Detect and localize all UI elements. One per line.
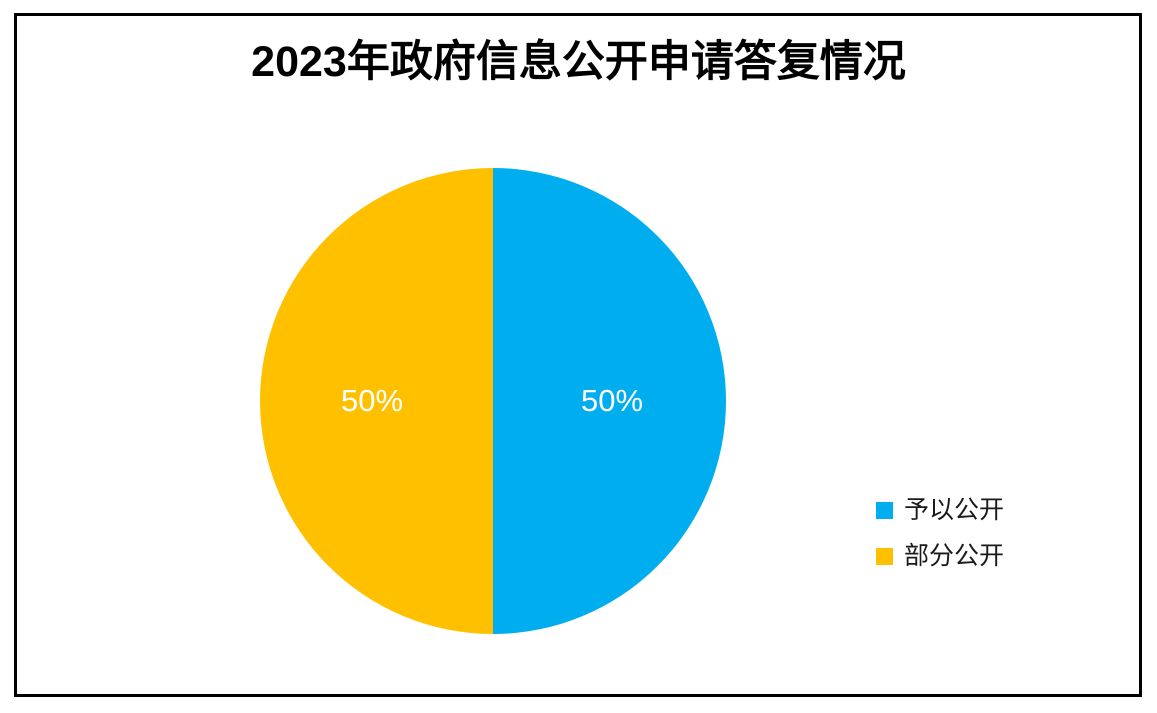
chart-canvas: 2023年政府信息公开申请答复情况 50% 50% 予以公开 部分公开 <box>0 0 1157 713</box>
square-swatch-icon <box>876 502 893 519</box>
legend-item-label: 予以公开 <box>904 498 1004 523</box>
pie-slice-label-yuyigongkai: 50% <box>581 383 643 418</box>
pie-slice-label-bufengongkai: 50% <box>341 383 403 418</box>
pie-chart-svg: 50% 50% <box>260 168 726 634</box>
legend-item-bufengongkai[interactable]: 部分公开 <box>876 533 1076 579</box>
square-swatch-icon <box>876 548 893 565</box>
chart-title: 2023年政府信息公开申请答复情况 <box>0 38 1157 87</box>
chart-legend: 予以公开 部分公开 <box>876 487 1076 579</box>
pie-chart-plot-area: 50% 50% <box>260 168 726 634</box>
legend-item-yuyigongkai[interactable]: 予以公开 <box>876 487 1076 533</box>
legend-item-label: 部分公开 <box>904 544 1004 569</box>
